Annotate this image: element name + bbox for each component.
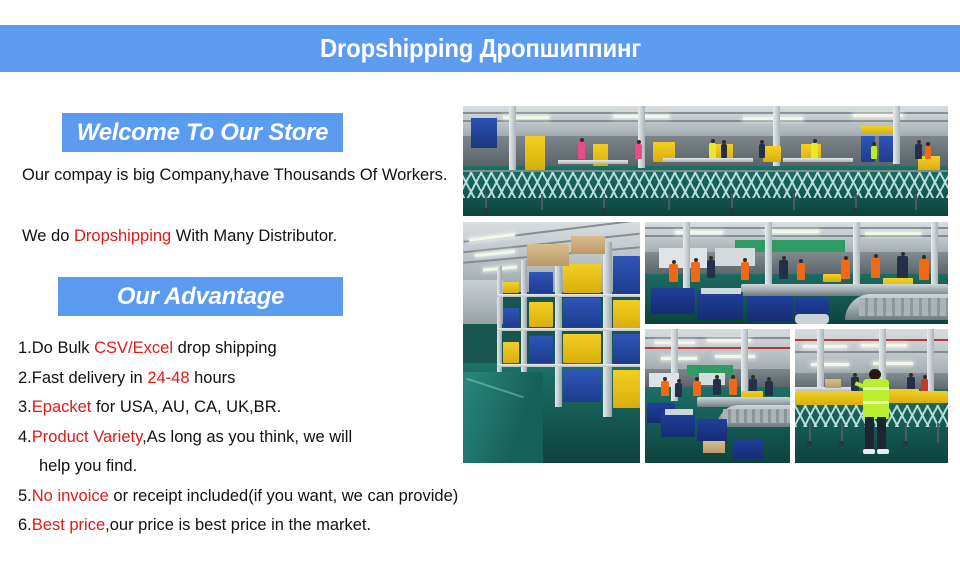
- item-number: 6.: [18, 516, 32, 534]
- welcome-badge-label: Welcome To Our Store: [77, 119, 328, 147]
- advantage-badge: Our Advantage: [58, 277, 343, 316]
- advantage-badge-label: Our Advantage: [117, 283, 284, 311]
- header-banner: Dropshipping Дропшиппинг: [0, 25, 960, 72]
- dropshipping-banner-page: Dropshipping Дропшиппинг Welcome To Our …: [0, 0, 960, 580]
- photo-warehouse-panorama-conveyor: [463, 106, 948, 216]
- item-post: for USA, AU, CA, UK,BR.: [91, 398, 281, 416]
- item-pre: Do Bulk: [32, 339, 94, 357]
- item-post: ,our price is best price in the market.: [105, 516, 371, 534]
- item-number: 1.: [18, 339, 32, 357]
- item-post: hours: [190, 369, 236, 387]
- dropshipping-highlight: Dropshipping: [74, 227, 171, 245]
- item-highlight: Best price: [32, 516, 105, 534]
- item-highlight: CSV/Excel: [94, 339, 173, 357]
- item-number: 3.: [18, 398, 32, 416]
- intro-paragraph: Our compay is big Company,have Thousands…: [22, 162, 472, 189]
- intro-paragraph-text: Our compay is big Company,have Thousands…: [22, 166, 448, 184]
- item-highlight: Product Variety: [32, 428, 142, 446]
- dropshipping-paragraph: We do Dropshipping With Many Distributor…: [22, 223, 472, 250]
- photo-worker-at-yellow-sorting-table: [795, 329, 948, 463]
- item-number: 5.: [18, 487, 32, 505]
- item-number: 4.: [18, 428, 32, 446]
- photo-sorting-line-overview: [645, 329, 790, 463]
- item-number: 2.: [18, 369, 32, 387]
- item-post: ,As long as you think, we will: [142, 428, 352, 446]
- item-post: or receipt included(if you want, we can …: [109, 487, 458, 505]
- photo-collage: [463, 106, 948, 463]
- item-highlight: Epacket: [32, 398, 92, 416]
- dropshipping-paragraph-suffix: With Many Distributor.: [171, 227, 337, 245]
- photo-warehouse-storage-racks-aisle: [463, 222, 640, 463]
- dropshipping-paragraph-prefix: We do: [22, 227, 74, 245]
- page-title: Dropshipping Дропшиппинг: [319, 33, 640, 64]
- list-item: 6.Best price,our price is best price in …: [18, 511, 578, 541]
- item-pre: Fast delivery in: [32, 369, 148, 387]
- welcome-badge: Welcome To Our Store: [62, 113, 343, 152]
- item-highlight: No invoice: [32, 487, 109, 505]
- item-highlight: 24-48: [147, 369, 189, 387]
- list-item: 5.No invoice or receipt included(if you …: [18, 482, 578, 512]
- item-post: drop shipping: [173, 339, 277, 357]
- photo-packing-line-workers-blue-totes: [645, 222, 948, 324]
